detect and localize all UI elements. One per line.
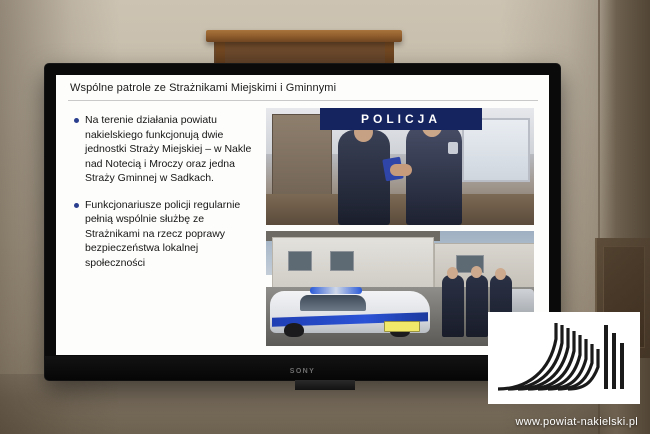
tv-brand-label: SONY — [290, 368, 315, 375]
building-window-1 — [288, 251, 312, 271]
slide-bullet-list: Na terenie działania powiatu nakielskieg… — [72, 113, 257, 282]
building-window-2 — [330, 251, 354, 271]
shelf-backboard — [214, 42, 394, 66]
police-car-windows — [300, 295, 366, 311]
wooden-shelf — [206, 30, 402, 42]
slide-title: Wspólne patrole ze Strażnikami Miejskimi… — [70, 82, 336, 94]
police-lightbar — [310, 287, 362, 294]
handshake — [390, 164, 412, 176]
officer-right-body — [406, 124, 462, 225]
officer-badge — [448, 142, 458, 154]
slide-bullet-1: Na terenie działania powiatu nakielskieg… — [72, 113, 257, 186]
handshake-photo: POLICJA — [266, 108, 534, 225]
standing-officer-2-head — [471, 266, 482, 278]
url-watermark-bar: www.powiat-nakielski.pl — [0, 408, 650, 434]
tv-screen: Wspólne patrole ze Strażnikami Miejskimi… — [56, 75, 549, 355]
license-plate — [384, 321, 420, 332]
standing-officer-1-head — [447, 267, 458, 279]
website-url: www.powiat-nakielski.pl — [516, 416, 638, 428]
photo-scene: Wspólne patrole ze Strażnikami Miejskimi… — [0, 0, 650, 434]
slide-bullet-2: Funkcjonariusze policji regularnie pełni… — [72, 198, 257, 271]
tv-mount-neck — [295, 380, 355, 390]
police-car-wheel-front — [284, 323, 304, 337]
slide-photo-column: POLICJA — [266, 108, 534, 346]
powiat-nakielski-logo — [488, 312, 640, 404]
logo-waves-icon — [494, 319, 634, 397]
wall-mounted-tv: Wspólne patrole ze Strażnikami Miejskimi… — [45, 64, 560, 380]
policja-banner: POLICJA — [320, 108, 482, 130]
presentation-slide: Wspólne patrole ze Strażnikami Miejskimi… — [56, 75, 549, 355]
slide-title-divider — [68, 100, 538, 101]
officer-left-body — [338, 130, 390, 225]
standing-officer-3-head — [495, 268, 506, 280]
tv-bezel-bottom: SONY — [45, 356, 560, 380]
standing-officer-2 — [466, 275, 488, 337]
office-desk — [266, 194, 534, 225]
standing-officer-1 — [442, 275, 464, 337]
